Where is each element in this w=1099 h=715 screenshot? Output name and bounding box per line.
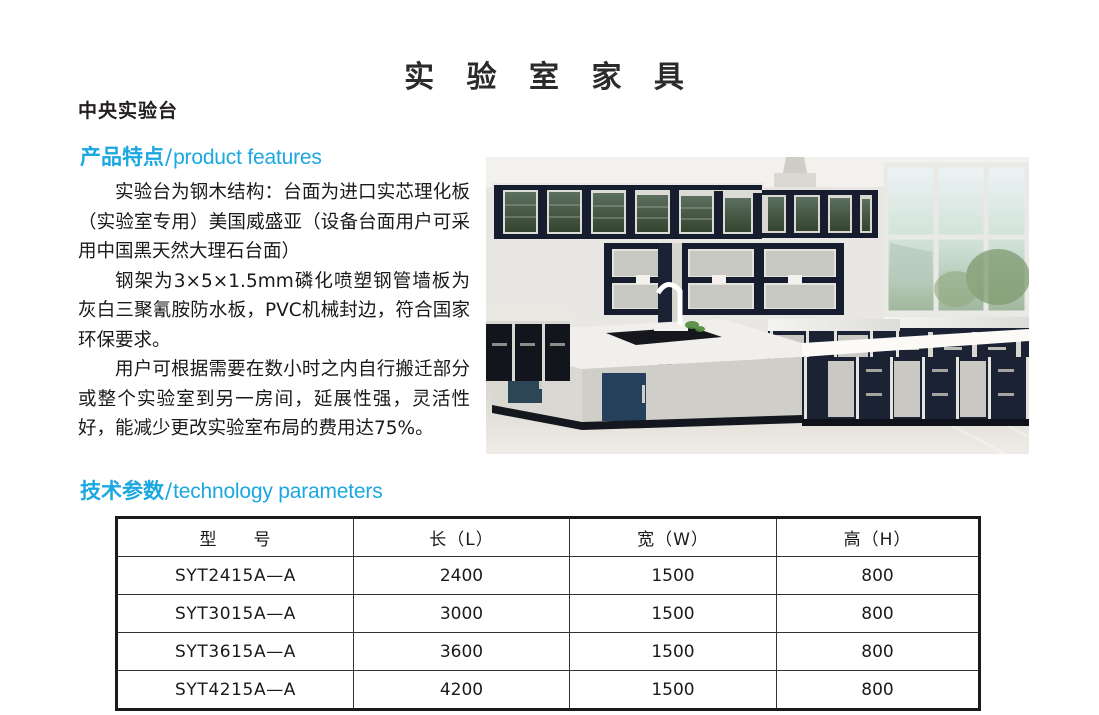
cell-length: 3000 <box>354 595 570 633</box>
cell-model: SYT4215A—A <box>117 671 354 710</box>
page-title: 实 验 室 家 具 <box>0 52 1099 96</box>
table-row: SYT3015A—A 3000 1500 800 <box>117 595 980 633</box>
cell-width: 1500 <box>570 671 777 710</box>
table-header-row: 型 号 长（L） 宽（W） 高（H） <box>117 518 980 557</box>
cell-model: SYT2415A—A <box>117 557 354 595</box>
column-header-length: 长（L） <box>354 518 570 557</box>
column-header-width: 宽（W） <box>570 518 777 557</box>
product-brochure-page: 实 验 室 家 具 中央实验台 产品特点/product features 实验… <box>0 0 1099 715</box>
section-heading-cn: 产品特点 <box>80 145 164 169</box>
section-heading-separator: / <box>164 145 173 169</box>
cell-height: 800 <box>777 595 980 633</box>
params-heading-cn: 技术参数 <box>80 479 164 503</box>
section-heading-technology-parameters: 技术参数/technology parameters <box>80 475 383 505</box>
product-subtitle: 中央实验台 <box>78 96 178 123</box>
cell-length: 3600 <box>354 633 570 671</box>
cell-length: 2400 <box>354 557 570 595</box>
table-row: SYT4215A—A 4200 1500 800 <box>117 671 980 710</box>
params-heading-separator: / <box>164 479 173 503</box>
laboratory-photo <box>486 157 1029 454</box>
table-row: SYT2415A—A 2400 1500 800 <box>117 557 980 595</box>
cell-width: 1500 <box>570 595 777 633</box>
cell-height: 800 <box>777 633 980 671</box>
params-heading-en: technology parameters <box>173 480 382 503</box>
section-heading-en: product features <box>173 146 322 169</box>
cell-length: 4200 <box>354 671 570 710</box>
cell-height: 800 <box>777 671 980 710</box>
cell-model: SYT3615A—A <box>117 633 354 671</box>
column-header-height: 高（H） <box>777 518 980 557</box>
laboratory-photo-illustration <box>486 157 1029 454</box>
product-features-body: 实验台为钢木结构：台面为进口实芯理化板（实验室专用）美国威盛亚（设备台面用户可采… <box>78 178 470 444</box>
cell-height: 800 <box>777 557 980 595</box>
specification-table: 型 号 长（L） 宽（W） 高（H） SYT2415A—A 2400 1500 … <box>115 516 981 711</box>
features-paragraph-1: 实验台为钢木结构：台面为进口实芯理化板（实验室专用）美国威盛亚（设备台面用户可采… <box>78 178 470 267</box>
features-paragraph-2: 钢架为3×5×1.5mm磷化喷塑钢管墙板为灰白三聚氰胺防水板，PVC机械封边，符… <box>78 267 470 356</box>
cell-width: 1500 <box>570 557 777 595</box>
cell-width: 1500 <box>570 633 777 671</box>
column-header-model: 型 号 <box>117 518 354 557</box>
features-paragraph-3: 用户可根据需要在数小时之内自行搬迁部分或整个实验室到另一房间，延展性强，灵活性好… <box>78 355 470 444</box>
table-row: SYT3615A—A 3600 1500 800 <box>117 633 980 671</box>
cell-model: SYT3015A—A <box>117 595 354 633</box>
section-heading-product-features: 产品特点/product features <box>80 141 322 171</box>
